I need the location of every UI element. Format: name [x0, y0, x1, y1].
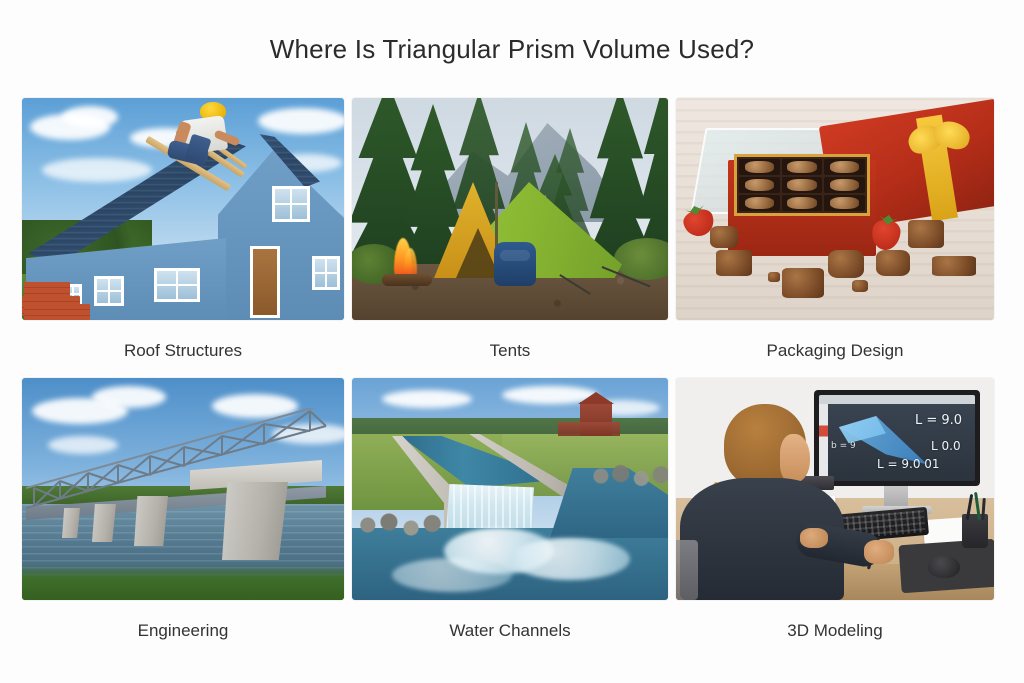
grid-cell-water-channels: Water Channels — [352, 378, 676, 642]
chocolate-tray — [734, 154, 870, 216]
water-foam — [392, 558, 512, 592]
loose-chocolate — [768, 272, 780, 282]
infographic-canvas: Where Is Triangular Prism Volume Used? — [0, 0, 1024, 683]
computer-monitor[interactable]: L = 9.0 L 0.0 L = 9.0 01 b = 9 — [814, 390, 980, 486]
bridge-pier — [62, 508, 80, 538]
bridge-pier — [134, 496, 168, 546]
person-hand — [864, 540, 894, 564]
tents-photo[interactable] — [352, 98, 668, 320]
grid-cell-3d-modeling: L = 9.0 L 0.0 L = 9.0 01 b = 9 — [676, 378, 1002, 642]
grid-cell-tents: Tents — [352, 98, 676, 378]
tile-wrap-tents — [352, 98, 676, 320]
front-door — [250, 246, 280, 318]
caption-roof-structures: Roof Structures — [22, 320, 352, 378]
cloud-shape — [258, 108, 344, 134]
engineering-photo[interactable] — [22, 378, 344, 600]
chocolate-piece — [824, 159, 865, 175]
screen-label-length: L = 9.0 — [915, 413, 962, 428]
caption-packaging-design: Packaging Design — [676, 320, 1002, 378]
loose-chocolate — [908, 220, 944, 248]
brick-stack — [24, 304, 90, 320]
caption-engineering: Engineering — [22, 600, 352, 642]
chocolate-piece — [782, 159, 823, 175]
cloud-shape — [62, 106, 118, 128]
cloud-shape — [382, 390, 472, 408]
screen-label-secondary: L 0.0 — [931, 439, 961, 453]
chocolate-piece — [824, 177, 865, 193]
screen-label-base: b = 9 — [831, 441, 856, 451]
caption-water-channels: Water Channels — [352, 600, 676, 642]
house-gable-wall — [218, 150, 344, 320]
computer-mouse[interactable] — [928, 556, 960, 578]
monitor-stand — [884, 486, 908, 508]
campfire-logs — [382, 274, 432, 286]
chocolate-piece — [824, 195, 865, 211]
chocolate-piece — [739, 195, 780, 211]
riprap-rocks — [354, 510, 446, 540]
loose-chocolate — [876, 250, 910, 276]
loose-chocolate — [852, 280, 868, 292]
loose-chocolate — [932, 256, 976, 276]
tile-wrap-water-channels — [352, 378, 676, 600]
window — [272, 186, 310, 222]
tile-wrap-roof-structures — [22, 98, 352, 320]
cloud-shape — [42, 158, 152, 182]
chair-back — [676, 540, 698, 600]
tile-wrap-3d-modeling: L = 9.0 L 0.0 L = 9.0 01 b = 9 — [676, 378, 1002, 600]
chocolate-piece — [782, 195, 823, 211]
caption-3d-modeling: 3D Modeling — [676, 600, 1002, 642]
grid-cell-engineering: Engineering — [22, 378, 352, 642]
person-face — [780, 434, 810, 482]
backpack — [494, 242, 536, 286]
loose-chocolate — [710, 226, 738, 248]
water-foam — [510, 538, 630, 580]
window — [312, 256, 340, 290]
tile-wrap-packaging-design — [676, 98, 1002, 320]
window — [154, 268, 200, 302]
cloud-shape — [92, 386, 166, 408]
roof-structures-photo[interactable] — [22, 98, 344, 320]
page-title: Where Is Triangular Prism Volume Used? — [0, 32, 1024, 66]
chocolate-piece — [739, 159, 780, 175]
screen-label-bottom: L = 9.0 01 — [877, 457, 940, 471]
loose-chocolate — [716, 250, 752, 276]
person-hand — [800, 528, 828, 548]
monitor-screen[interactable]: L = 9.0 L 0.0 L = 9.0 01 b = 9 — [819, 395, 975, 481]
caption-tents: Tents — [352, 320, 676, 378]
bridge-pier — [222, 482, 288, 560]
water-channels-photo[interactable] — [352, 378, 668, 600]
window — [94, 276, 124, 306]
grid-cell-packaging-design: Packaging Design — [676, 98, 1002, 378]
packaging-design-photo[interactable] — [676, 98, 994, 320]
grid-cell-roof-structures: Roof Structures — [22, 98, 352, 378]
brick-outbuilding — [558, 422, 620, 436]
bridge-pier — [92, 504, 116, 542]
chocolate-piece — [739, 177, 780, 193]
cad-toolbar — [819, 395, 975, 404]
loose-chocolate — [828, 250, 864, 278]
near-bank-grass — [22, 564, 344, 600]
tile-wrap-engineering — [22, 378, 352, 600]
3d-modeling-photo[interactable]: L = 9.0 L 0.0 L = 9.0 01 b = 9 — [676, 378, 994, 600]
riprap-rocks — [588, 464, 668, 488]
chocolate-piece — [782, 177, 823, 193]
loose-chocolate — [782, 268, 824, 298]
image-grid: Roof Structures — [22, 98, 1002, 642]
cad-color-palette — [819, 404, 828, 481]
